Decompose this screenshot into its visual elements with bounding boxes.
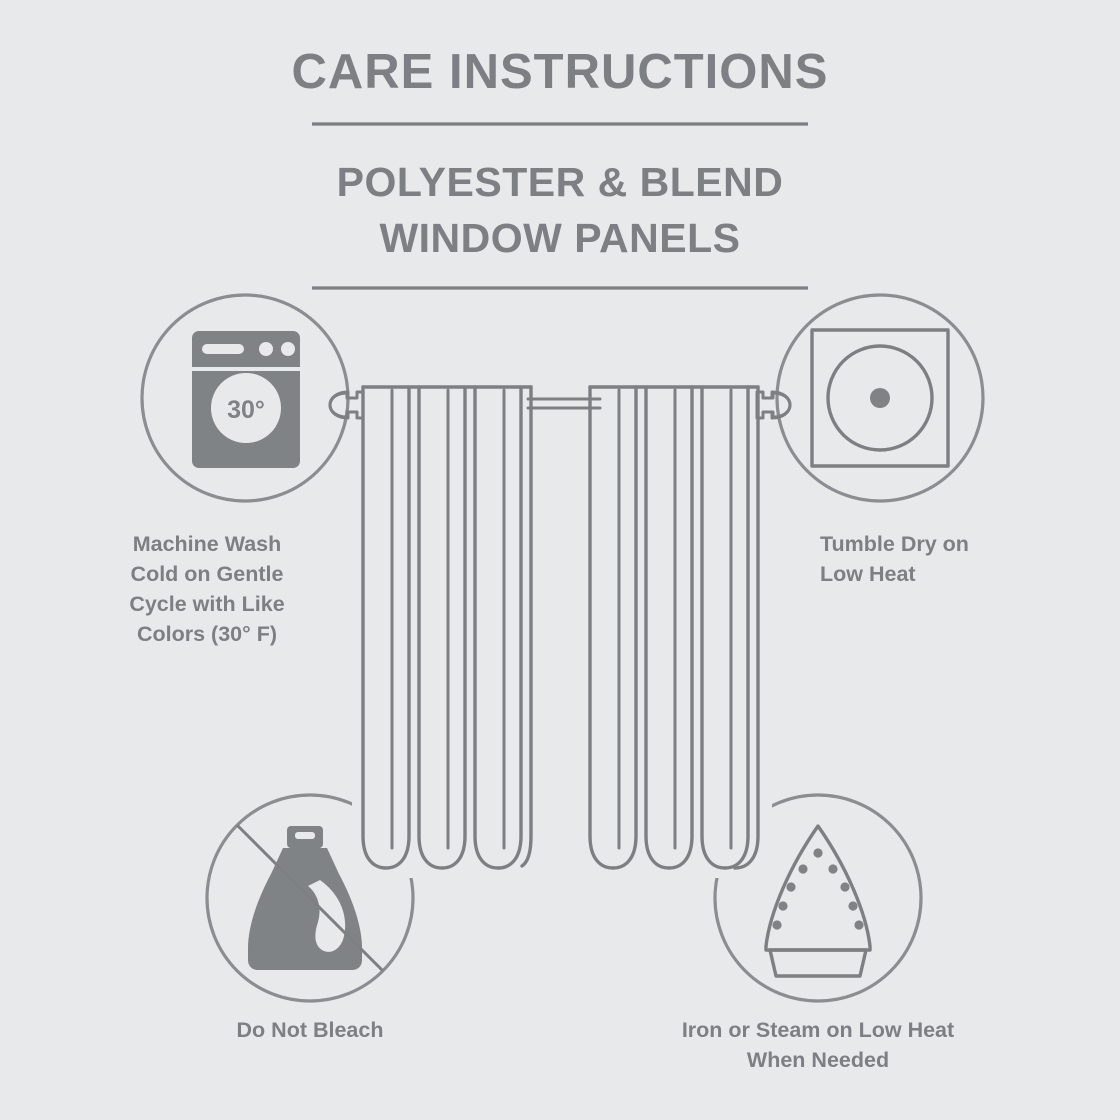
- washing-machine-icon: 30°: [192, 331, 300, 468]
- iron-base: [770, 950, 866, 976]
- iron-soleplate: [766, 826, 870, 950]
- infographic-canvas: CARE INSTRUCTIONS POLYESTER & BLEND WIND…: [0, 0, 1120, 1120]
- caption-line: Iron or Steam on Low Heat: [682, 1018, 954, 1042]
- caption-do-not-bleach: Do Not Bleach: [237, 1018, 384, 1042]
- washer-dial-2: [281, 342, 295, 356]
- caption-tumble-dry: Tumble Dry on Low Heat: [820, 532, 969, 586]
- caption-line: Tumble Dry on: [820, 532, 969, 556]
- caption-line: Low Heat: [820, 562, 916, 586]
- washer-dial-1: [259, 342, 273, 356]
- iron-low-heat-icon: [766, 826, 870, 976]
- caption-machine-wash: Machine Wash Cold on Gentle Cycle with L…: [129, 532, 284, 646]
- curtain-detail: [330, 378, 790, 878]
- dryer-low-heat-dot: [870, 388, 890, 408]
- caption-line: Cold on Gentle: [131, 562, 284, 586]
- caption-line: Machine Wash: [133, 532, 282, 556]
- subtitle-line-1: POLYESTER & BLEND: [337, 159, 784, 205]
- page-title: CARE INSTRUCTIONS: [292, 45, 829, 99]
- caption-line: Cycle with Like: [129, 592, 284, 616]
- caption-line: When Needed: [747, 1048, 889, 1072]
- caption-line: Do Not Bleach: [237, 1018, 384, 1042]
- subtitle-line-2: WINDOW PANELS: [379, 215, 740, 261]
- wash-temperature-label: 30°: [227, 396, 265, 424]
- header-block: CARE INSTRUCTIONS POLYESTER & BLEND WIND…: [292, 45, 829, 288]
- tumble-dry-low-icon: [812, 330, 948, 466]
- washer-slot: [202, 344, 244, 354]
- caption-line: Colors (30° F): [137, 622, 277, 646]
- iron-steam-holes: [772, 848, 863, 929]
- caption-iron: Iron or Steam on Low Heat When Needed: [682, 1018, 954, 1072]
- care-instructions-infographic: CARE INSTRUCTIONS POLYESTER & BLEND WIND…: [0, 0, 1120, 1120]
